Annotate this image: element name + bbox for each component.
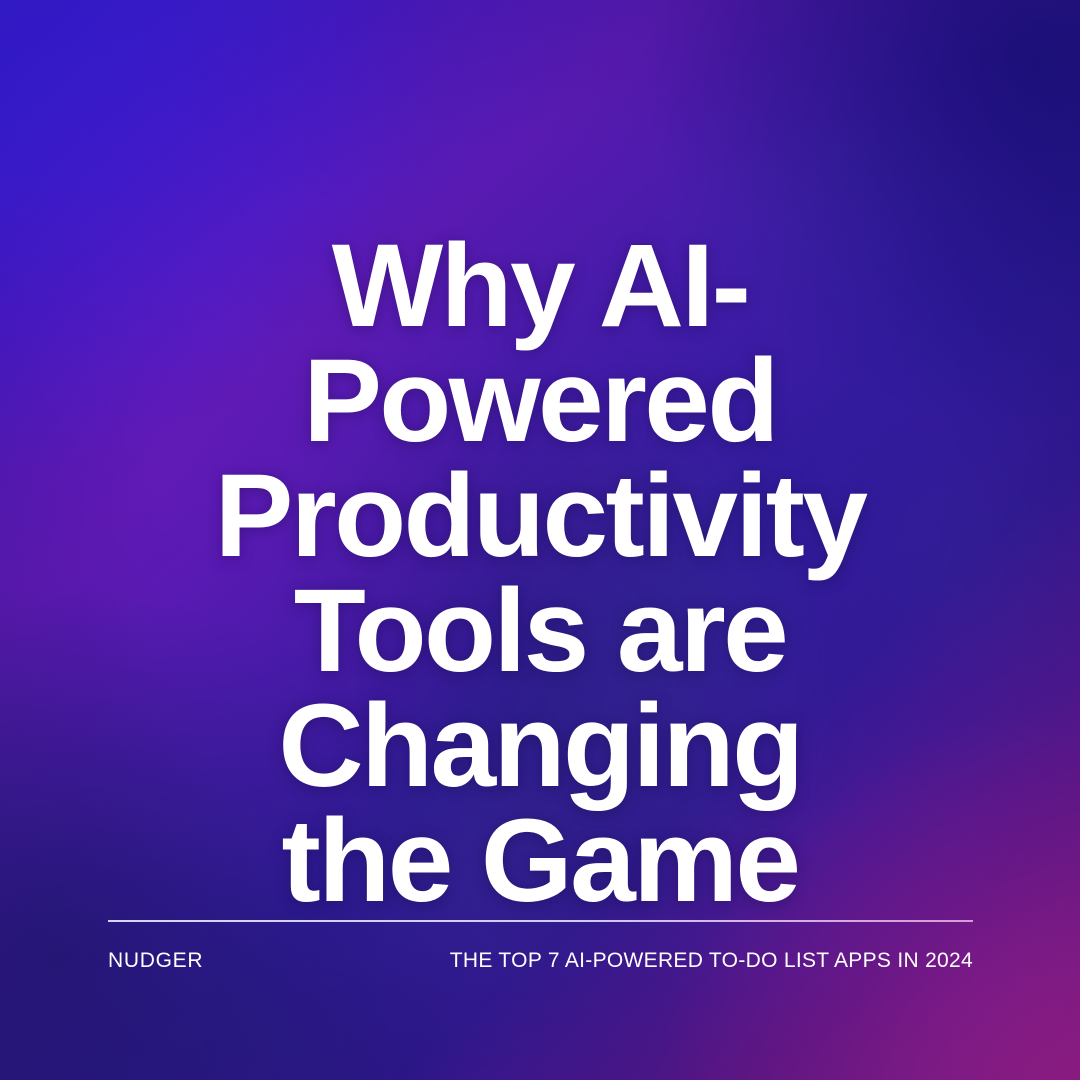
headline-line-3: Productivity <box>0 459 1080 574</box>
headline-line-5: Changing <box>0 689 1080 804</box>
brand-name: NUDGER <box>108 946 203 976</box>
headline: Why AI- Powered Productivity Tools are C… <box>0 229 1080 919</box>
footer: NUDGER THE TOP 7 AI-POWERED TO-DO LIST A… <box>108 946 973 978</box>
footer-subtitle: THE TOP 7 AI-POWERED TO-DO LIST APPS IN … <box>450 946 973 976</box>
footer-divider <box>108 920 973 922</box>
headline-line-6: the Game <box>0 804 1080 919</box>
headline-line-2: Powered <box>0 344 1080 459</box>
headline-line-4: Tools are <box>0 574 1080 689</box>
headline-line-1: Why AI- <box>0 229 1080 344</box>
social-card: Why AI- Powered Productivity Tools are C… <box>0 0 1080 1080</box>
